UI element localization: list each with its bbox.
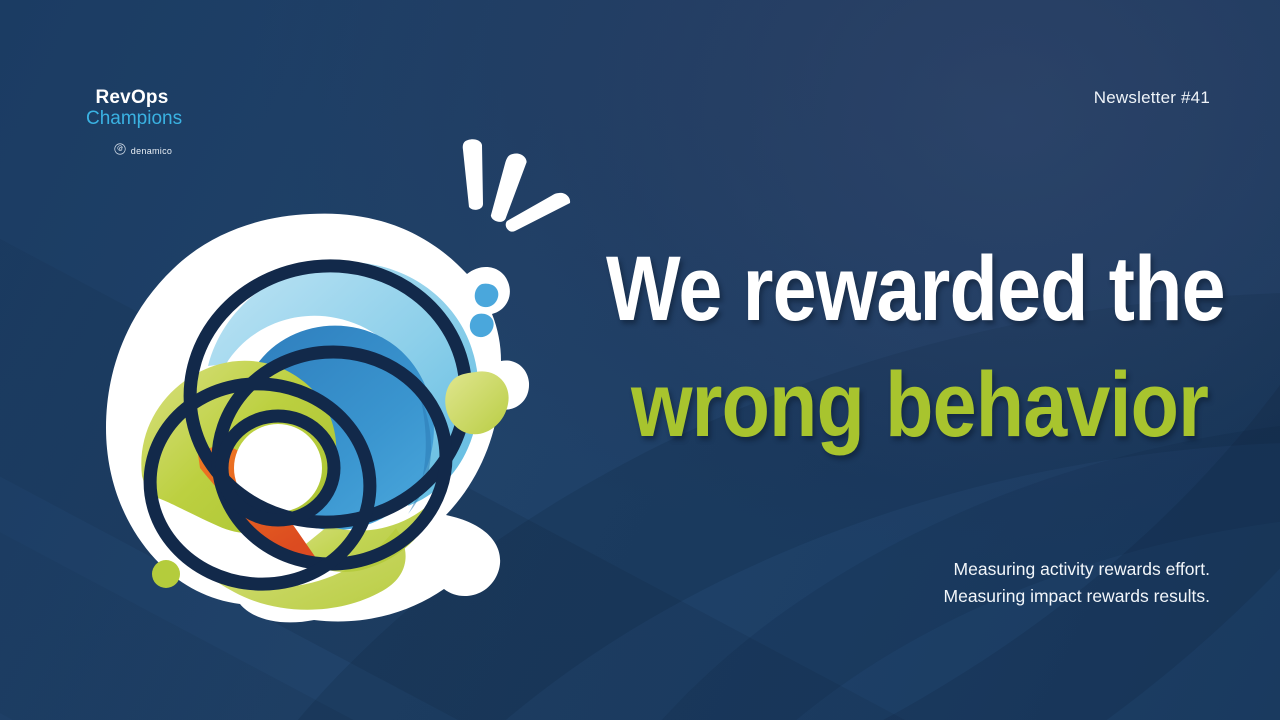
subtitle-line-2: Measuring impact rewards results. [944, 583, 1210, 610]
subtitle: Measuring activity rewards effort. Measu… [944, 556, 1210, 609]
brand-name-revops: RevOps [86, 88, 178, 108]
newsletter-number-label: Newsletter #41 [1094, 88, 1210, 108]
subtitle-line-1: Measuring activity rewards effort. [944, 556, 1210, 583]
sub-brand-name: denamico [131, 146, 172, 156]
sub-brand-lockup: denamico [97, 142, 189, 160]
headline-line-1: We rewarded the [606, 243, 1208, 337]
headline: We rewarded the wrong behavior [508, 243, 1208, 453]
denamico-spiral-logo-illustration [78, 196, 548, 626]
brand-name-champions: Champions [86, 108, 178, 129]
newsletter-cover-slide: RevOps Champions denamico Newsletter #41 [0, 0, 1280, 720]
brand-lockup: RevOps Champions denamico [86, 88, 316, 160]
denamico-swirl-icon [114, 142, 126, 160]
headline-line-2: wrong behavior [606, 359, 1208, 453]
